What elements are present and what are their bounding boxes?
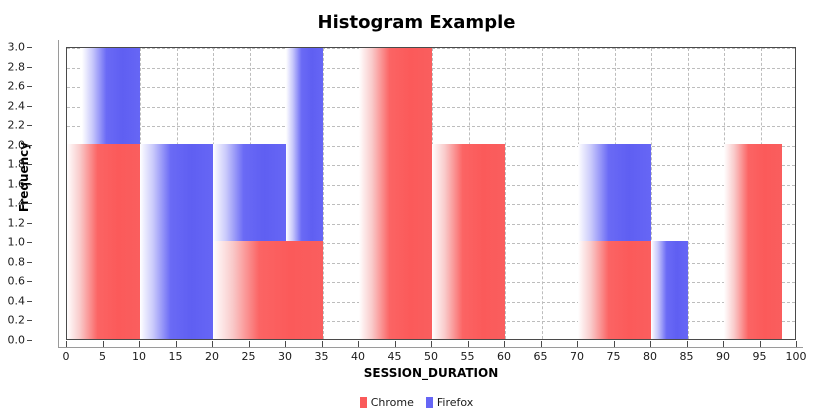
x-tick-mark <box>103 341 104 347</box>
y-tick-mark <box>27 164 32 165</box>
x-tick-label: 30 <box>265 350 305 363</box>
plot-area <box>66 47 796 340</box>
y-tick-mark <box>27 262 32 263</box>
x-tick-label: 0 <box>46 350 86 363</box>
y-tick-mark <box>27 86 32 87</box>
x-tick-label: 45 <box>375 350 415 363</box>
x-tick-label: 35 <box>302 350 342 363</box>
y-tick-label: 2.4 <box>0 99 25 112</box>
y-tick-mark <box>27 67 32 68</box>
chart-title: Histogram Example <box>0 12 833 33</box>
gridline-vertical <box>542 48 543 339</box>
y-tick-mark <box>27 242 32 243</box>
x-tick-label: 75 <box>594 350 634 363</box>
y-tick-label: 0.8 <box>0 255 25 268</box>
x-tick-label: 10 <box>119 350 159 363</box>
y-tick-mark <box>27 320 32 321</box>
bar-chrome <box>213 241 323 339</box>
x-tick-mark <box>723 341 724 347</box>
bar-chrome <box>67 144 140 339</box>
bar-firefox <box>651 241 688 339</box>
bar-firefox <box>140 144 213 339</box>
gridline-vertical <box>323 48 324 339</box>
x-tick-mark <box>431 341 432 347</box>
histogram-chart: Histogram Example Frequency SESSION_DURA… <box>0 0 833 419</box>
x-axis-label: SESSION_DURATION <box>66 366 796 380</box>
x-tick-label: 70 <box>557 350 597 363</box>
legend-label: Chrome <box>371 396 414 409</box>
x-tick-mark <box>650 341 651 347</box>
y-tick-label: 2.2 <box>0 119 25 132</box>
y-tick-label: 1.6 <box>0 177 25 190</box>
bar-chrome <box>359 47 432 339</box>
bar-chrome <box>432 144 505 339</box>
x-tick-label: 90 <box>703 350 743 363</box>
y-tick-mark <box>27 145 32 146</box>
x-tick-label: 65 <box>521 350 561 363</box>
y-tick-label: 0.4 <box>0 294 25 307</box>
y-tick-label: 1.2 <box>0 216 25 229</box>
y-tick-mark <box>27 340 32 341</box>
y-tick-mark <box>27 281 32 282</box>
x-tick-mark <box>541 341 542 347</box>
x-tick-label: 80 <box>630 350 670 363</box>
x-tick-mark <box>687 341 688 347</box>
gridline-vertical <box>688 48 689 339</box>
x-tick-label: 55 <box>448 350 488 363</box>
y-tick-label: 0.6 <box>0 275 25 288</box>
x-tick-label: 50 <box>411 350 451 363</box>
bar-chrome <box>724 144 782 339</box>
x-tick-label: 20 <box>192 350 232 363</box>
x-axis-line <box>58 347 803 348</box>
y-tick-label: 1.8 <box>0 158 25 171</box>
x-tick-label: 5 <box>83 350 123 363</box>
x-tick-label: 40 <box>338 350 378 363</box>
x-tick-mark <box>212 341 213 347</box>
x-tick-mark <box>176 341 177 347</box>
x-tick-mark <box>760 341 761 347</box>
bar-chrome <box>578 241 651 339</box>
x-tick-mark <box>66 341 67 347</box>
y-tick-mark <box>27 125 32 126</box>
x-tick-label: 60 <box>484 350 524 363</box>
x-tick-mark <box>468 341 469 347</box>
legend-swatch-icon <box>426 397 433 408</box>
y-tick-mark <box>27 106 32 107</box>
x-tick-label: 15 <box>156 350 196 363</box>
x-tick-label: 100 <box>776 350 816 363</box>
y-tick-label: 3.0 <box>0 41 25 54</box>
x-tick-mark <box>395 341 396 347</box>
y-tick-label: 0.2 <box>0 314 25 327</box>
x-tick-mark <box>358 341 359 347</box>
y-tick-label: 1.4 <box>0 197 25 210</box>
x-tick-mark <box>614 341 615 347</box>
legend-item-firefox: Firefox <box>426 396 473 409</box>
x-tick-mark <box>322 341 323 347</box>
x-tick-mark <box>139 341 140 347</box>
gridline-vertical <box>505 48 506 339</box>
x-tick-label: 25 <box>229 350 269 363</box>
y-tick-label: 1.0 <box>0 236 25 249</box>
chart-legend: ChromeFirefox <box>0 396 833 409</box>
x-tick-mark <box>504 341 505 347</box>
y-tick-label: 2.0 <box>0 138 25 151</box>
legend-swatch-icon <box>360 397 367 408</box>
legend-label: Firefox <box>437 396 473 409</box>
x-tick-mark <box>249 341 250 347</box>
x-tick-label: 85 <box>667 350 707 363</box>
x-tick-mark <box>577 341 578 347</box>
y-tick-label: 0.0 <box>0 334 25 347</box>
y-tick-mark <box>27 301 32 302</box>
y-tick-label: 2.8 <box>0 60 25 73</box>
y-tick-mark <box>27 47 32 48</box>
y-tick-mark <box>27 223 32 224</box>
y-tick-mark <box>27 184 32 185</box>
x-tick-mark <box>285 341 286 347</box>
x-tick-label: 95 <box>740 350 780 363</box>
y-tick-mark <box>27 203 32 204</box>
legend-item-chrome: Chrome <box>360 396 414 409</box>
x-tick-mark <box>796 341 797 347</box>
y-tick-label: 2.6 <box>0 80 25 93</box>
